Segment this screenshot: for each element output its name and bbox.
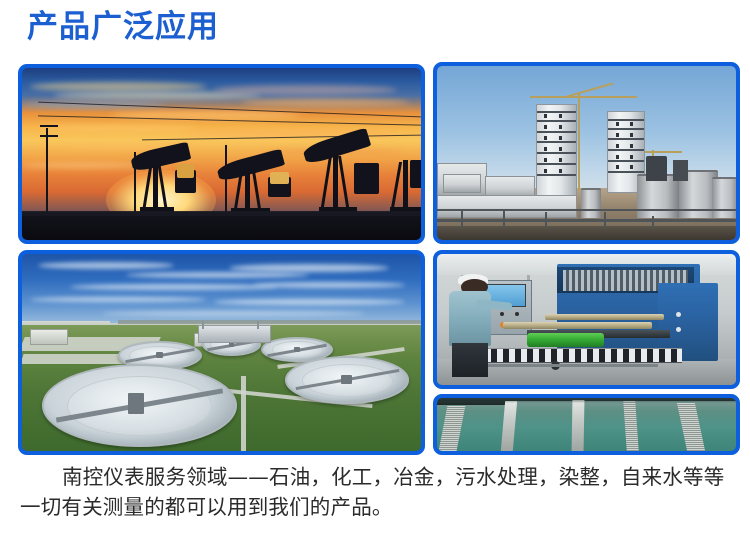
water-treatment-basins-photo <box>437 398 736 451</box>
plant-building <box>437 195 577 218</box>
photo-frame-oil-field[interactable] <box>18 64 425 244</box>
page-title: 产品广泛应用 <box>27 8 219 46</box>
pumpjack <box>214 127 302 220</box>
basin-walkway <box>571 400 584 451</box>
textile-dyeing-machine-photo <box>437 254 736 385</box>
storage-tank <box>712 177 736 217</box>
petrochemical-plant-photo <box>437 66 736 240</box>
clarifier-tank <box>285 356 409 403</box>
application-caption: 南控仪表服务领域——石油，化工，冶金，污水处理，染整，自来水等等一切有关测量的都… <box>20 462 732 522</box>
pumpjack <box>301 102 389 219</box>
photo-frame-water-basins[interactable] <box>433 394 740 455</box>
gallery-column-left <box>18 62 425 457</box>
worker-uniform <box>449 291 491 346</box>
machine-roller <box>503 322 653 329</box>
pumpjack <box>381 116 421 219</box>
conveyor-belt <box>485 348 682 363</box>
machine-roller <box>545 314 665 320</box>
wastewater-treatment-photo <box>22 254 421 451</box>
plant-building <box>443 174 481 193</box>
gallery-column-right <box>433 62 740 457</box>
distillation-tower <box>536 104 577 196</box>
tower-crane <box>578 94 580 191</box>
foreground-ground <box>22 212 421 240</box>
fabric-roll <box>527 333 605 347</box>
worker-legs <box>452 343 488 377</box>
clarifier-tank-main <box>42 364 238 447</box>
photo-frame-textile-dyeing[interactable] <box>433 250 740 389</box>
pumpjack <box>126 116 206 219</box>
photo-frame-petrochemical-plant[interactable] <box>433 62 740 244</box>
application-gallery <box>18 62 740 457</box>
plant-building <box>30 329 68 345</box>
oil-field-pumpjacks-photo <box>22 68 421 240</box>
storage-tank <box>581 188 602 218</box>
photo-frame-wastewater-treatment[interactable] <box>18 250 425 455</box>
